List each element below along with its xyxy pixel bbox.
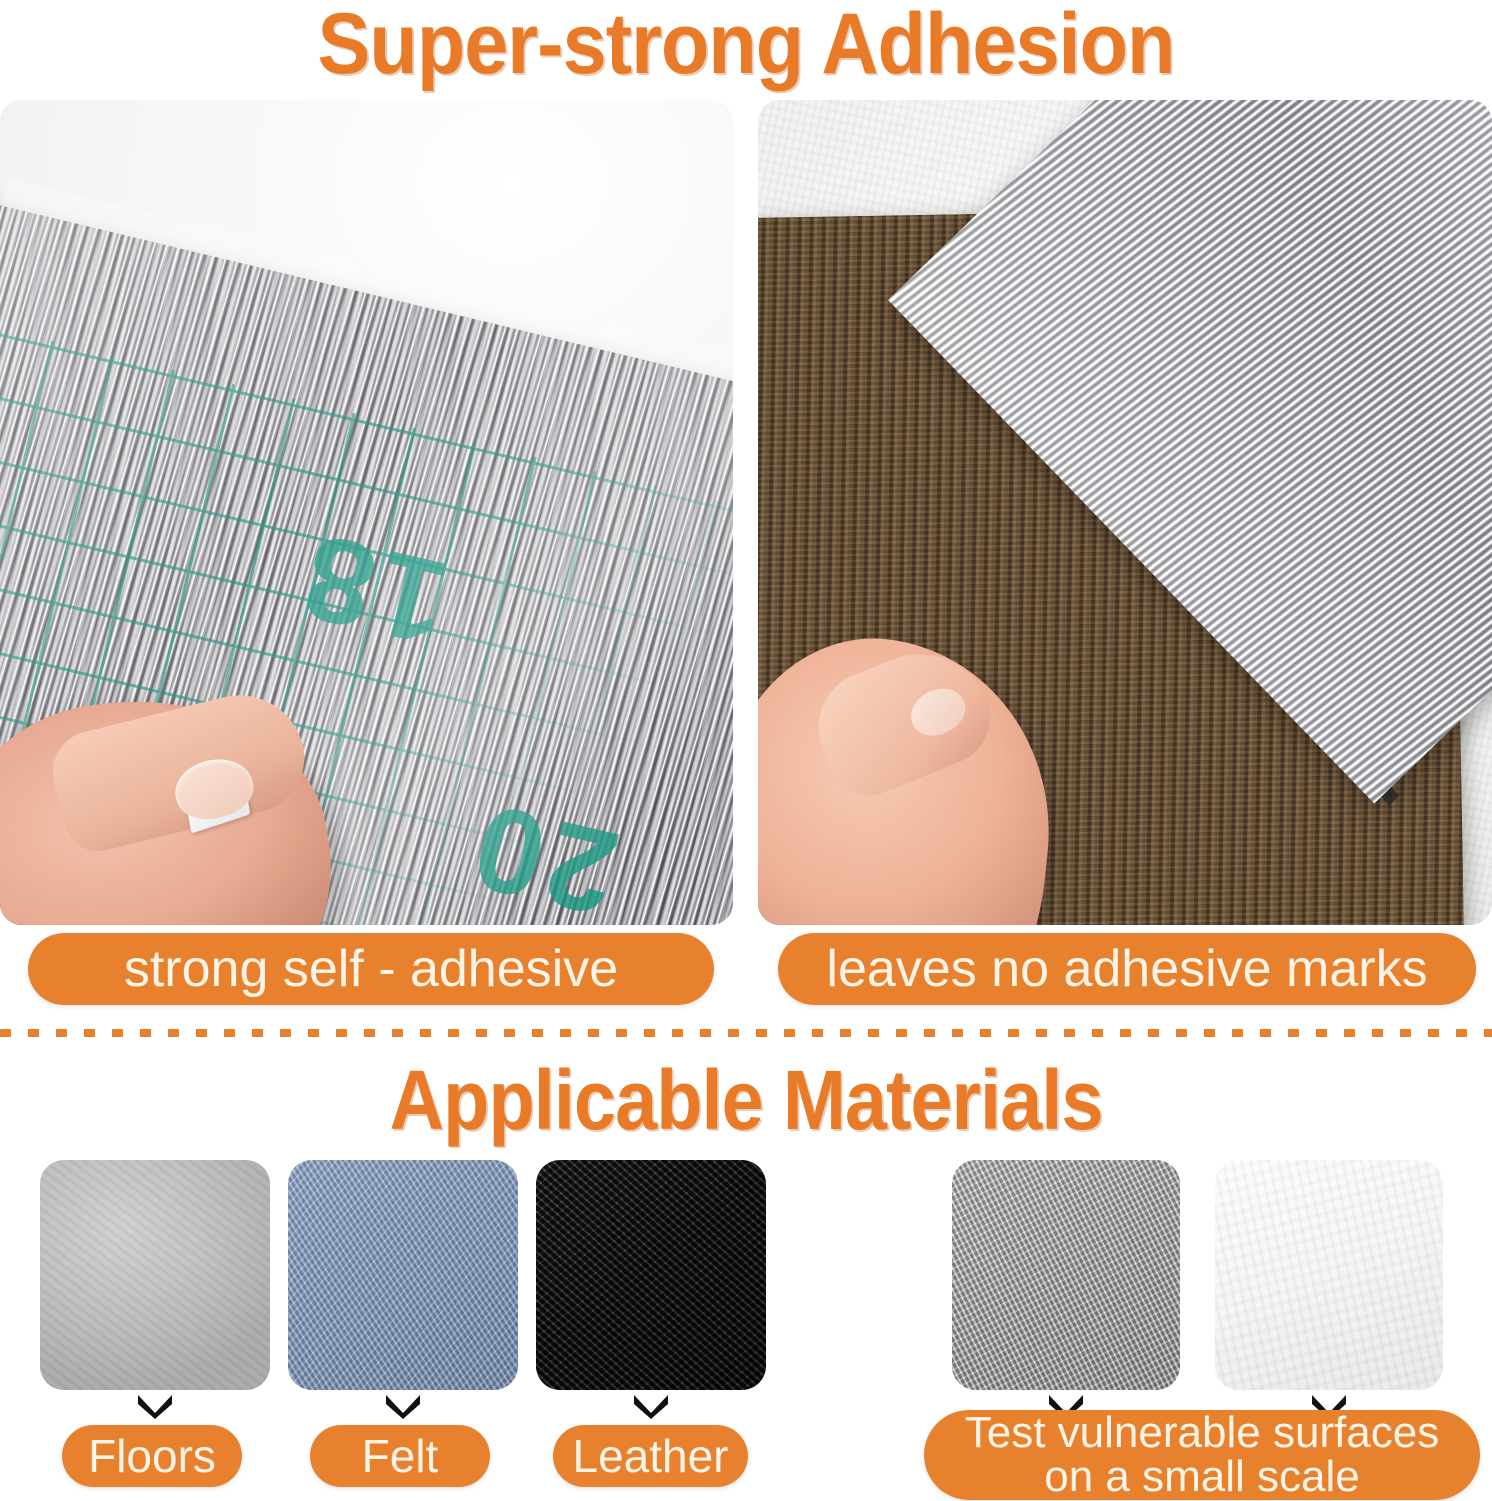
photo-no-adhesive-marks: [758, 100, 1492, 925]
photo-strong-self-adhesive: 18 20: [0, 100, 733, 925]
page-title-applicable-materials: Applicable Materials: [75, 1052, 1418, 1148]
swatch-plaster: [1215, 1160, 1443, 1390]
label-felt: Felt: [310, 1425, 490, 1487]
chevron-down-icon: [631, 1393, 671, 1419]
label-test-vulnerable-surfaces: Test vulnerable surfaces on a small scal…: [924, 1410, 1480, 1500]
caption-leaves-no-adhesive-marks: leaves no adhesive marks: [778, 933, 1476, 1005]
dashed-divider: [0, 1029, 1492, 1037]
swatch-stucco: [952, 1160, 1180, 1390]
label-leather: Leather: [553, 1425, 748, 1487]
chevron-down-icon: [135, 1393, 175, 1419]
swatch-felt: [288, 1160, 518, 1390]
swatch-floors: [40, 1160, 270, 1390]
swatch-leather: [536, 1160, 766, 1390]
label-floors: Floors: [62, 1425, 242, 1487]
caption-strong-self-adhesive: strong self - adhesive: [28, 933, 714, 1005]
chevron-down-icon: [383, 1393, 423, 1419]
page-title-adhesion: Super-strong Adhesion: [60, 0, 1433, 92]
